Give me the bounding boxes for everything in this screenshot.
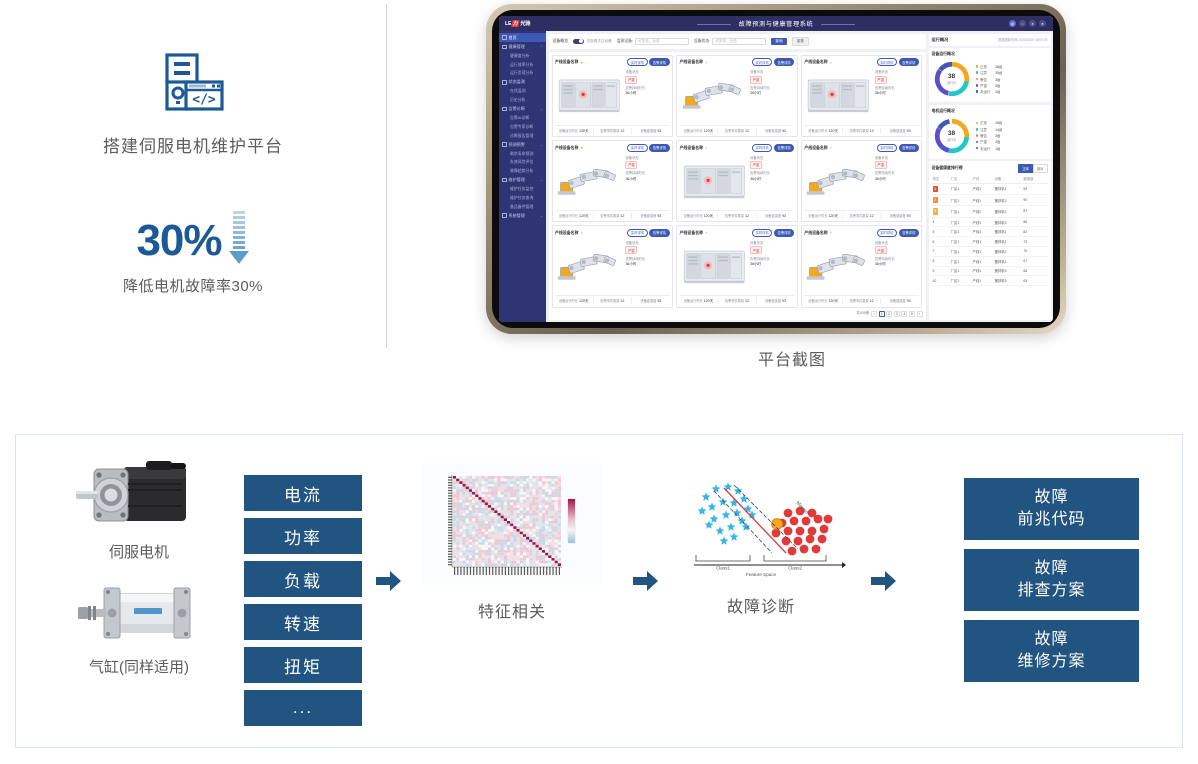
sidebar-item-rul[interactable]: 剩余寿命预测 xyxy=(499,149,546,158)
pagination-total: 共400条 xyxy=(857,311,870,316)
status-key: 设备状态 xyxy=(625,69,669,74)
metric-cell: 告警事件数量 13 xyxy=(843,128,882,134)
device-cards-panel: 产线设备名称 ★ 实时详情 告警详情 设备状态 严重 告警持续时长 36小时 设… xyxy=(549,52,926,320)
legend-label: 注意 xyxy=(980,70,993,75)
realtime-detail-button[interactable]: 实时详情 xyxy=(877,229,897,237)
rank-medal: 1 xyxy=(933,186,939,193)
sidebar-label: 系统管理 xyxy=(509,213,525,219)
cell-rank: 6 xyxy=(932,237,950,247)
device-status-title: 设备运行概况 xyxy=(932,51,1048,57)
device-card-footer: 设备运行时长 120天 告警事件数量 12 设备健康度 93 xyxy=(555,210,670,219)
monitor-icon xyxy=(502,80,507,85)
outputs-column: 故障 前兆代码故障 排查方案故障 维修方案 xyxy=(964,478,1139,682)
user-icon[interactable]: ● xyxy=(1039,20,1046,27)
equipment-cabinet-icon xyxy=(680,239,748,293)
cell-health: 90 xyxy=(1022,195,1047,206)
servo-motor-caption: 伺服电机 xyxy=(109,541,169,562)
device-card-actions: 实时详情 告警详情 xyxy=(627,144,669,152)
device-name: 产线设备名称 xyxy=(680,59,703,65)
table-row[interactable]: 8 厂区1 产线1 搅拌机1 67 xyxy=(932,256,1048,266)
realtime-detail-button[interactable]: 实时详情 xyxy=(752,144,772,152)
metric-key: 设备健康度 xyxy=(640,299,656,303)
device-donut-label: 运行中 xyxy=(947,80,957,85)
rank-tab-desc[interactable]: 倒序 xyxy=(1033,164,1048,173)
realtime-detail-button[interactable]: 实时详情 xyxy=(752,58,772,66)
chevron-up-icon: ⌃ xyxy=(540,45,543,49)
app-body: 首页 健康管理 ⌃ 健康度分析 运行效率分析 运行负荷分析 xyxy=(499,31,1053,322)
sidebar-item-report[interactable]: 诊断报告管理 xyxy=(499,131,546,140)
sidebar-item-expert-diagnosis[interactable]: 告警专家诊断 xyxy=(499,122,546,131)
device-card-body: 设备状态 严重 告警持续时长 36小时 xyxy=(680,239,795,293)
legend-label: 未运行 xyxy=(980,146,993,151)
metric-key: 设备运行时长 xyxy=(559,214,578,218)
sidebar-item-load[interactable]: 运行负荷分析 xyxy=(499,69,546,78)
pagination-page-3[interactable]: 3 xyxy=(894,311,900,317)
cell-factory: 厂区1 xyxy=(950,246,972,256)
device-card[interactable]: 产线设备名称 ★ 实时详情 告警详情 设备状态 严重 告警持续时长 36小时 设… xyxy=(801,225,923,307)
table-row[interactable]: 3 厂区1 产线2 搅拌机1 87 xyxy=(932,206,1048,217)
svg-text:Feature Space: Feature Space xyxy=(746,572,777,577)
device-card-header: 产线设备名称 ★ 实时详情 告警详情 xyxy=(555,58,670,66)
device-card[interactable]: 产线设备名称 ★ 实时详情 告警详情 设备状态 严重 告警持续时长 36小时 设… xyxy=(552,225,674,307)
star-icon[interactable]: ★ xyxy=(829,145,833,150)
legend-label: 正常 xyxy=(980,120,993,125)
pagination-next[interactable]: › xyxy=(917,311,923,317)
sidebar-group-health[interactable]: 健康管理 ⌃ xyxy=(499,42,546,51)
signal-tags-column: 电流功率负载转速扭矩... xyxy=(244,475,362,726)
device-cards-grid: 产线设备名称 ★ 实时详情 告警详情 设备状态 严重 告警持续时长 36小时 设… xyxy=(552,55,923,308)
app-title-wrap: 故障预测与健康管理系统 xyxy=(499,19,1053,28)
device-card-actions: 实时详情 告警详情 xyxy=(752,229,794,237)
table-row[interactable]: 9 厂区1 产线1 搅拌机3 66 xyxy=(932,266,1048,276)
cylinder-caption: 气缸(同样适用) xyxy=(89,656,189,677)
cell-device: 搅拌机1 xyxy=(993,227,1022,237)
table-row[interactable]: 4 厂区1 产线1 搅拌机3 86 xyxy=(932,217,1048,227)
reset-button[interactable]: 重置 xyxy=(792,37,809,47)
sidebar-group-maintenance[interactable]: 维护管理 ⌄ xyxy=(499,176,546,185)
status-key: 设备状态 xyxy=(625,240,669,245)
sidebar-item-ai-diagnosis[interactable]: 告警AI诊断 xyxy=(499,114,546,123)
equipment-cabinet-icon xyxy=(555,68,623,122)
failure-rate-stat: 30% xyxy=(123,219,263,296)
realtime-detail-button[interactable]: 实时详情 xyxy=(877,58,897,66)
chevron-down-icon: ⌄ xyxy=(540,143,543,147)
metric-cell: 告警事件数量 12 xyxy=(594,298,633,304)
cell-rank: 10 xyxy=(932,276,950,286)
cell-health: 86 xyxy=(1022,217,1047,227)
status-key: 设备状态 xyxy=(875,240,919,245)
status-badge: 严重 xyxy=(625,246,637,254)
duration-value: 36小时 xyxy=(875,91,919,96)
output-box: 故障 前兆代码 xyxy=(964,478,1139,540)
cell-line: 产线1 xyxy=(972,183,994,194)
legend-item: 未运行 1台 xyxy=(976,146,1048,151)
metric-cell: 设备运行时长 120天 xyxy=(680,128,719,134)
server-code-window-icon: </> xyxy=(153,52,233,114)
device-donut-center: 38 运行中 xyxy=(932,59,972,99)
status-key: 设备状态 xyxy=(750,240,794,245)
device-donut-chart: 38 运行中 xyxy=(932,59,972,99)
metric-value: 93 xyxy=(657,129,661,133)
device-card[interactable]: 产线设备名称 ★ 实时详情 告警详情 设备状态 严重 告警持续时长 36小时 设… xyxy=(676,140,798,222)
cell-factory: 厂区1 xyxy=(950,183,972,194)
rail-update-time: 数据更新时间 2020/05/20 08:00:00 xyxy=(998,37,1047,42)
device-card-body: 设备状态 严重 告警持续时长 36小时 xyxy=(555,154,670,208)
technical-solution-panel: 伺服电机 xyxy=(15,434,1183,748)
health-rank-title: 设备健康度排行榜 xyxy=(932,165,963,171)
metric-cell: 告警事件数量 12 xyxy=(594,128,633,134)
chevron-down-icon: ⌄ xyxy=(540,178,543,182)
device-name: 产线设备名称 xyxy=(804,145,827,151)
duration-key: 告警持续时长 xyxy=(875,85,919,90)
realtime-detail-button[interactable]: 实时详情 xyxy=(627,58,647,66)
device-card-body: 设备状态 严重 告警持续时长 36小时 xyxy=(680,154,795,208)
status-badge: 严重 xyxy=(750,246,762,254)
toggle-switch[interactable] xyxy=(573,39,584,45)
metric-value: 93 xyxy=(907,214,911,218)
device-card-status: 设备状态 严重 告警持续时长 36小时 xyxy=(750,239,794,293)
sidebar-item-task-query[interactable]: 维护任务查询 xyxy=(499,194,546,203)
legend-value: 2台 xyxy=(995,139,1000,144)
alarm-detail-button[interactable]: 告警详情 xyxy=(774,229,794,237)
robot-arm-icon xyxy=(555,239,623,293)
status-badge: 严重 xyxy=(625,161,637,169)
legend-color-dot xyxy=(976,147,979,150)
table-column-header: 排名 xyxy=(932,175,950,184)
device-card[interactable]: 产线设备名称 ★ 实时详情 告警详情 设备状态 严重 告警持续时长 36小时 设… xyxy=(552,140,674,222)
metric-key: 设备健康度 xyxy=(640,214,656,218)
table-row[interactable]: 7 厂区1 产线1 搅拌机2 70 xyxy=(932,246,1048,256)
table-row[interactable]: 1 厂区1 产线1 搅拌机1 93 xyxy=(932,183,1048,194)
alarm-detail-button[interactable]: 告警详情 xyxy=(774,58,794,66)
metric-value: 12 xyxy=(620,129,624,133)
device-status-panel: 设备运行概况 xyxy=(929,48,1051,102)
legend-color-dot xyxy=(976,90,979,93)
device-card-footer: 设备运行时长 120天 告警事件数量 12 设备健康度 93 xyxy=(804,295,919,304)
legend-item: 注意 15台 xyxy=(976,70,1048,75)
legend-value: 3台 xyxy=(995,133,1000,138)
window-buttons: ▦ ⌂ ♠ ● xyxy=(1009,20,1046,27)
fault-diagnosis-figure: Margin Class1 Class2 Feature Space 故障诊断 xyxy=(676,475,846,617)
legend-label: 未运行 xyxy=(980,89,993,94)
device-card-actions: 实时详情 告警详情 xyxy=(752,144,794,152)
metric-cell: 设备健康度 93 xyxy=(757,213,795,219)
device-card-actions: 实时详情 告警详情 xyxy=(877,144,919,152)
metric-key: 设备健康度 xyxy=(640,129,656,133)
device-card[interactable]: 产线设备名称 ★ 实时详情 告警详情 设备状态 严重 告警持续时长 36小时 设… xyxy=(676,55,798,137)
sidebar-label: 状态监测 xyxy=(509,79,525,85)
filter-status-select[interactable]: 可多选、全选 ⌄ xyxy=(712,38,766,45)
robot-arm-icon xyxy=(680,68,748,122)
metric-value: 120天 xyxy=(828,129,838,133)
home-icon xyxy=(502,35,507,40)
rate-row: 30% xyxy=(136,219,249,265)
device-card-status: 设备状态 严重 告警持续时长 36小时 xyxy=(750,154,794,208)
realtime-detail-button[interactable]: 实时详情 xyxy=(752,229,772,237)
health-icon xyxy=(502,45,507,50)
rail-header: 运行概况 数据更新时间 2020/05/20 08:00:00 xyxy=(929,34,1051,46)
device-card[interactable]: 产线设备名称 ★ 实时详情 告警详情 设备状态 严重 告警持续时长 36小时 设… xyxy=(676,225,798,307)
alarm-detail-button[interactable]: 告警详情 xyxy=(649,229,669,237)
sidebar-label: 预测预警 xyxy=(509,142,525,148)
device-status-chart: 38 运行中 正常 16台 注意 15台 警告 3台 严重 3台 未运行 1台 xyxy=(932,59,1048,99)
status-badge: 严重 xyxy=(875,246,887,254)
metric-key: 设备健康度 xyxy=(890,299,906,303)
device-card-footer: 设备运行时长 120天 告警事件数量 12 设备健康度 93 xyxy=(680,125,795,134)
tablet-frame: LE 力 光驰 故障预测与健康管理系统 ▦ ⌂ xyxy=(486,4,1066,334)
device-card-actions: 实时详情 告警详情 xyxy=(627,58,669,66)
alarm-detail-button[interactable]: 告警详情 xyxy=(649,144,669,152)
pagination-page-4[interactable]: 4 xyxy=(901,311,907,317)
cell-rank: 2 xyxy=(932,195,950,206)
device-card-body: 设备状态 严重 告警持续时长 36小时 xyxy=(680,68,795,122)
cell-health: 82 xyxy=(1022,227,1047,237)
alarm-detail-button[interactable]: 告警详情 xyxy=(649,58,669,66)
health-rank-panel: 设备健康度排行榜 正序 倒序 排名厂区产线设备健康度 xyxy=(929,161,1051,320)
status-badge-wrap: 严重 xyxy=(625,76,669,84)
metric-key: 设备运行时长 xyxy=(684,214,703,218)
sidebar-item-risk[interactable]: 失效风险评估 xyxy=(499,158,546,167)
star-icon[interactable]: ★ xyxy=(705,145,709,150)
sidebar-group-predict[interactable]: 预测预警 ⌄ xyxy=(499,140,546,149)
equipment-column: 伺服电机 xyxy=(69,459,209,677)
favorites-toggle[interactable]: 仅查看关注设备 xyxy=(573,39,612,45)
sidebar-group-monitor[interactable]: 状态监测 xyxy=(499,78,546,87)
status-badge-wrap: 严重 xyxy=(875,76,919,84)
device-name: 产线设备名称 xyxy=(555,59,578,65)
svg-text:</>: </> xyxy=(192,93,216,108)
status-badge: 严重 xyxy=(625,76,637,84)
legend-value: 16台 xyxy=(995,64,1002,69)
sidebar-group-system[interactable]: 系统管理 ⌄ xyxy=(499,211,546,220)
star-icon[interactable]: ★ xyxy=(580,60,584,65)
device-card-status: 设备状态 严重 告警持续时长 36小时 xyxy=(750,68,794,122)
metric-key: 设备运行时长 xyxy=(559,129,578,133)
sidebar-item-home[interactable]: 首页 xyxy=(499,33,546,42)
alarm-icon xyxy=(502,107,507,112)
table-row[interactable]: 2 厂区1 产线1 搅拌机2 90 xyxy=(932,195,1048,206)
filter-status[interactable]: 设备状态: 可多选、全选 ⌄ xyxy=(694,38,766,45)
metric-cell: 设备运行时长 120天 xyxy=(555,213,594,219)
sidebar-group-alarm[interactable]: 告警诊断 ⌄ xyxy=(499,104,546,113)
filter-status-label: 设备状态: xyxy=(694,39,710,44)
device-name: 产线设备名称 xyxy=(680,230,703,236)
cell-line: 产线1 xyxy=(972,217,994,227)
metric-cell: 设备运行时长 120天 xyxy=(680,298,719,304)
device-name: 产线设备名称 xyxy=(804,59,827,65)
device-card[interactable]: 产线设备名称 ★ 实时详情 告警详情 设备状态 严重 告警持续时长 36小时 设… xyxy=(801,55,923,137)
metric-value: 93 xyxy=(657,214,661,218)
cell-rank: 7 xyxy=(932,246,950,256)
health-rank-table: 排名厂区产线设备健康度 1 厂区1 产线1 搅拌机1 932 厂区1 产线1 搅… xyxy=(932,175,1048,287)
correlation-heatmap-icon xyxy=(422,463,602,590)
metric-value: 130天 xyxy=(579,129,589,133)
metric-value: 12 xyxy=(870,214,874,218)
pagination-page-1[interactable]: 1 xyxy=(879,311,885,317)
legend-value: 15台 xyxy=(995,70,1002,75)
cell-device: 搅拌机2 xyxy=(993,246,1022,256)
cell-line: 产线1 xyxy=(972,237,994,247)
chevron-down-icon: ⌄ xyxy=(760,39,763,43)
star-icon[interactable]: ★ xyxy=(580,145,584,150)
legend-value: 3台 xyxy=(995,83,1000,88)
device-card-status: 设备状态 严重 告警持续时长 36小时 xyxy=(625,239,669,293)
metric-value: 120天 xyxy=(704,214,714,218)
metric-cell: 设备健康度 93 xyxy=(632,213,670,219)
signal-tag: 扭矩 xyxy=(244,647,362,683)
alarm-detail-button[interactable]: 告警详情 xyxy=(899,229,919,237)
cell-rank: 3 xyxy=(932,206,950,217)
device-card-body: 设备状态 严重 告警持续时长 36小时 xyxy=(555,68,670,122)
status-badge-wrap: 严重 xyxy=(625,246,669,254)
status-badge: 严重 xyxy=(875,161,887,169)
table-row[interactable]: 5 厂区1 产线3 搅拌机1 82 xyxy=(932,227,1048,237)
pagination-page-2[interactable]: 2 xyxy=(886,311,892,317)
star-icon[interactable]: ★ xyxy=(705,230,709,235)
feature-correlation-caption: 特征相关 xyxy=(478,598,546,622)
duration-value: 36小时 xyxy=(750,91,794,96)
filter-device-placeholder: 可多选、全选 xyxy=(638,39,660,44)
status-badge: 严重 xyxy=(750,76,762,84)
robot-arm-icon xyxy=(804,154,872,208)
fault-diagnosis-caption: 故障诊断 xyxy=(727,593,795,617)
output-line-1: 故障 xyxy=(1034,558,1068,580)
legend-item: 严重 2台 xyxy=(976,139,1048,144)
table-row[interactable]: 10 厂区1 产线1 搅拌机3 63 xyxy=(932,276,1048,286)
metric-key: 告警事件数量 xyxy=(725,129,744,133)
status-badge-wrap: 严重 xyxy=(625,161,669,169)
device-name: 产线设备名称 xyxy=(804,230,827,236)
svg-text:Class2: Class2 xyxy=(788,566,802,571)
title-rule-right xyxy=(821,24,855,25)
alarm-detail-button[interactable]: 告警详情 xyxy=(774,144,794,152)
bell-icon[interactable]: ♠ xyxy=(1029,20,1036,27)
metric-cell: 设备健康度 93 xyxy=(757,128,795,134)
realtime-detail-button[interactable]: 实时详情 xyxy=(627,229,647,237)
device-card-footer: 设备运行时长 120天 告警事件数量 13 设备健康度 93 xyxy=(804,125,919,134)
rank-tab-asc[interactable]: 正序 xyxy=(1018,164,1033,173)
flow-diagram: 伺服电机 xyxy=(16,435,1182,747)
alarm-detail-button[interactable]: 告警详情 xyxy=(899,144,919,152)
table-row[interactable]: 6 厂区1 产线1 搅拌机1 73 xyxy=(932,237,1048,247)
device-card[interactable]: 产线设备名称 ★ 实时详情 告警详情 设备状态 严重 告警持续时长 36小时 设… xyxy=(801,140,923,222)
status-badge-wrap: 严重 xyxy=(750,161,794,169)
duration-key: 告警持续时长 xyxy=(875,256,919,261)
cell-line: 产线1 xyxy=(972,266,994,276)
metric-key: 设备运行时长 xyxy=(808,214,827,218)
pagination[interactable]: 共400条 ‹ 1 2 3 4 5 › xyxy=(552,308,923,317)
signal-tag: 电流 xyxy=(244,475,362,511)
top-section: </> 搭建伺服电机维护平台 30% xyxy=(0,0,1198,390)
home-icon[interactable]: ⌂ xyxy=(1019,20,1026,27)
cell-factory: 厂区1 xyxy=(950,256,972,266)
metric-value: 93 xyxy=(782,129,786,133)
table-column-header: 厂区 xyxy=(950,175,972,184)
status-badge-wrap: 严重 xyxy=(875,161,919,169)
app-sidebar[interactable]: 首页 健康管理 ⌃ 健康度分析 运行效率分析 运行负荷分析 xyxy=(499,31,546,322)
legend-color-dot xyxy=(976,122,979,125)
robot-arm-icon xyxy=(804,239,872,293)
metric-value: 12 xyxy=(745,129,749,133)
search-button[interactable]: 查询 xyxy=(771,38,786,46)
device-card-status: 设备状态 严重 告警持续时长 36小时 xyxy=(875,68,919,122)
device-card-actions: 实时详情 告警详情 xyxy=(877,229,919,237)
metric-key: 告警事件数量 xyxy=(850,299,869,303)
legend-label: 严重 xyxy=(980,139,993,144)
cell-factory: 厂区1 xyxy=(950,217,972,227)
filter-device-label: 监测设备: xyxy=(617,39,633,44)
device-card-footer: 设备运行时长 120天 告警事件数量 12 设备健康度 93 xyxy=(804,210,919,219)
chevron-down-icon: ⌄ xyxy=(683,39,686,43)
device-card-actions: 实时详情 告警详情 xyxy=(752,58,794,66)
sidebar-item-task-monitor[interactable]: 维护任务监控 xyxy=(499,185,546,194)
table-column-header: 设备 xyxy=(993,175,1022,184)
duration-key: 告警持续时长 xyxy=(625,170,669,175)
stats-column: </> 搭建伺服电机维护平台 30% xyxy=(0,0,386,350)
sidebar-item-efficiency[interactable]: 运行效率分析 xyxy=(499,60,546,69)
settings-icon xyxy=(502,213,507,218)
cell-factory: 厂区1 xyxy=(950,276,972,286)
pagination-page-5[interactable]: 5 xyxy=(909,311,915,317)
metric-key: 告警事件数量 xyxy=(725,214,744,218)
realtime-detail-button[interactable]: 实时详情 xyxy=(627,144,647,152)
cell-line: 产线3 xyxy=(972,227,994,237)
grid-icon[interactable]: ▦ xyxy=(1009,20,1016,27)
duration-key: 告警持续时长 xyxy=(750,256,794,261)
device-card-footer: 设备运行时长 120天 告警事件数量 12 设备健康度 93 xyxy=(680,210,795,219)
metric-cell: 设备健康度 93 xyxy=(757,298,795,304)
star-icon[interactable]: ★ xyxy=(829,230,833,235)
sidebar-item-online-monitor[interactable]: 在线监测 xyxy=(499,87,546,96)
star-icon[interactable]: ★ xyxy=(829,60,833,65)
sidebar-item-trend[interactable]: 故障趋势分析 xyxy=(499,167,546,176)
pneumatic-cylinder-icon xyxy=(74,574,204,652)
filter-device[interactable]: 监测设备: 可多选、全选 ⌄ xyxy=(617,38,689,45)
device-status-legend: 正常 16台 注意 15台 警告 3台 严重 3台 未运行 1台 xyxy=(976,64,1048,94)
device-card-header: 产线设备名称 ★ 实时详情 告警详情 xyxy=(680,144,795,152)
cell-rank: 8 xyxy=(932,256,950,266)
legend-item: 严重 3台 xyxy=(976,83,1048,88)
filter-device-select[interactable]: 可多选、全选 ⌄ xyxy=(635,38,689,45)
status-key: 设备状态 xyxy=(875,69,919,74)
realtime-detail-button[interactable]: 实时详情 xyxy=(877,144,897,152)
legend-value: 1台 xyxy=(995,146,1000,151)
sidebar-item-spare-parts[interactable]: 备品备件管理 xyxy=(499,202,546,211)
metric-cell: 设备健康度 93 xyxy=(881,213,919,219)
star-icon[interactable]: ★ xyxy=(705,60,709,65)
sidebar-item-history[interactable]: 历史分析 xyxy=(499,96,546,105)
cell-health: 87 xyxy=(1022,206,1047,217)
motor-status-panel: 电机运行概况 xyxy=(929,105,1051,159)
metric-value: 93 xyxy=(782,299,786,303)
duration-value: 36小时 xyxy=(875,177,919,182)
health-rank-tabs[interactable]: 正序 倒序 xyxy=(1018,164,1047,173)
cell-health: 70 xyxy=(1022,246,1047,256)
device-card[interactable]: 产线设备名称 ★ 实时详情 告警详情 设备状态 严重 告警持续时长 36小时 设… xyxy=(552,55,674,137)
app-title: 故障预测与健康管理系统 xyxy=(739,21,814,28)
status-key: 设备状态 xyxy=(875,155,919,160)
robot-arm-icon xyxy=(555,154,623,208)
signal-tag: ... xyxy=(244,690,362,726)
metric-cell: 设备健康度 93 xyxy=(632,128,670,134)
star-icon[interactable]: ★ xyxy=(580,230,584,235)
metric-key: 告警事件数量 xyxy=(850,214,869,218)
metric-cell: 设备运行时长 120天 xyxy=(804,298,843,304)
predict-icon xyxy=(502,142,507,147)
pagination-prev[interactable]: ‹ xyxy=(871,311,877,317)
alarm-detail-button[interactable]: 告警详情 xyxy=(899,58,919,66)
sidebar-item-health-score[interactable]: 健康度分析 xyxy=(499,51,546,60)
